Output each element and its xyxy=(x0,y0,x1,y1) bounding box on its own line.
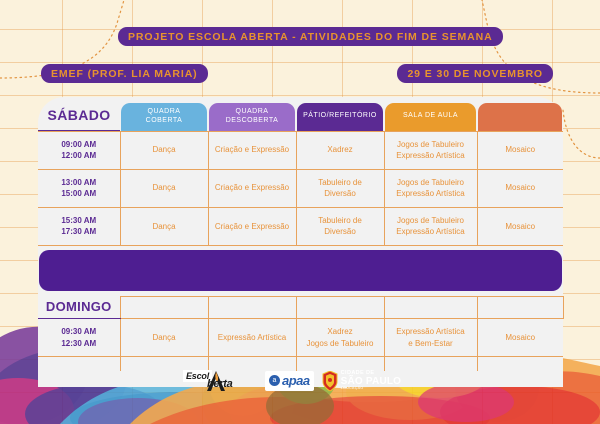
sunday-spacer-cell xyxy=(120,297,208,319)
activity-line-1: Mosaico xyxy=(480,221,562,233)
activity-line-1: Mosaico xyxy=(480,182,562,194)
activity-line-1: Expressão Artística xyxy=(387,326,475,338)
purple-banner xyxy=(39,250,562,291)
time-cell: 09:00 AM 12:00 AM xyxy=(38,131,120,169)
activity-line-1: Jogos de Tabuleiro xyxy=(387,177,475,189)
apaa-logo-text: apaa xyxy=(282,373,310,388)
time-cell: 09:30 AM 12:30 AM xyxy=(38,319,120,357)
activity-cell: Expressão Artística xyxy=(208,319,296,357)
activity-cell: Mosaico xyxy=(477,131,563,169)
activity-line-1: Xadrez xyxy=(299,326,382,338)
apaa-mark-icon: a xyxy=(269,375,280,386)
saturday-header-row: SÁBADO QUADRA COBERTA QUADRA DESCOBERTA … xyxy=(38,97,563,131)
sunday-header-row: DOMINGO xyxy=(38,297,563,319)
activity-line-1: Expressão Artística xyxy=(211,332,294,344)
activity-cell: Criação e Expressão xyxy=(208,169,296,207)
header-line-1: SALA DE AULA xyxy=(403,112,458,121)
header-line-1: QUADRA xyxy=(236,108,269,117)
escola-aberta-logo-text-2: berta xyxy=(207,378,232,390)
activity-cell: Jogos de Tabuleiro Expressão Artística xyxy=(384,169,477,207)
activity-line-1: Criação e Expressão xyxy=(211,144,294,156)
activity-line-1: Dança xyxy=(123,182,206,194)
activity-cell: Jogos de Tabuleiro Expressão Artística xyxy=(384,207,477,245)
sao-paulo-coat-of-arms-icon xyxy=(322,371,338,391)
activity-cell: Mosaico xyxy=(477,207,563,245)
column-header-patio-refeitorio: PÁTIO/REFEITÓRIO xyxy=(296,97,384,131)
time-start: 13:00 AM xyxy=(40,177,118,189)
activity-line-1: Criação e Expressão xyxy=(211,221,294,233)
activity-line-1: Jogos de Tabuleiro xyxy=(387,139,475,151)
sunday-spacer-cell xyxy=(477,297,563,319)
column-header-blank xyxy=(477,97,563,131)
column-header-quadra-coberta: QUADRA COBERTA xyxy=(120,97,208,131)
time-start: 15:30 AM xyxy=(40,215,118,227)
time-start: 09:30 AM xyxy=(40,326,118,338)
apaa-logo: a apaa xyxy=(265,371,314,391)
activity-line-1: Jogos de Tabuleiro xyxy=(387,215,475,227)
activity-cell: Dança xyxy=(120,207,208,245)
activity-line-1: Mosaico xyxy=(480,144,562,156)
page-title: PROJETO ESCOLA ABERTA - ATIVIDADES DO FI… xyxy=(118,27,503,46)
table-row: 09:00 AM 12:00 AM Dança Criação e Expres… xyxy=(38,131,563,169)
activity-cell: Xadrez xyxy=(296,131,384,169)
schedule-table: SÁBADO QUADRA COBERTA QUADRA DESCOBERTA … xyxy=(38,97,564,371)
activity-line-1: Dança xyxy=(123,332,206,344)
activity-line-2: Diversão xyxy=(299,226,382,238)
column-header-sala-de-aula: SALA DE AULA xyxy=(384,97,477,131)
sunday-spacer-cell xyxy=(296,297,384,319)
sunday-label: DOMINGO xyxy=(38,297,120,319)
purple-banner-cell xyxy=(38,246,563,297)
schedule-table-wrapper: SÁBADO QUADRA COBERTA QUADRA DESCOBERTA … xyxy=(38,97,563,371)
table-row: 13:00 AM 15:00 AM Dança Criação e Expres… xyxy=(38,169,563,207)
column-header-quadra-descoberta: QUADRA DESCOBERTA xyxy=(208,97,296,131)
header-line-2: COBERTA xyxy=(146,117,183,126)
activity-line-2: Diversão xyxy=(299,188,382,200)
sunday-spacer-cell xyxy=(208,297,296,319)
purple-banner-row xyxy=(38,246,563,297)
activity-line-1: Criação e Expressão xyxy=(211,182,294,194)
empty-cell xyxy=(477,357,563,371)
time-end: 12:00 AM xyxy=(40,150,118,162)
header-line-1: QUADRA xyxy=(148,108,181,117)
activity-cell: Dança xyxy=(120,169,208,207)
activity-cell: Tabuleiro de Diversão xyxy=(296,169,384,207)
activity-line-2: Expressão Artística xyxy=(387,150,475,162)
time-cell: 15:30 AM 17:30 AM xyxy=(38,207,120,245)
header-line-2: DESCOBERTA xyxy=(226,117,279,126)
escola-aberta-logo: Escol berta xyxy=(183,369,257,393)
activity-cell: Xadrez Jogos de Tabuleiro xyxy=(296,319,384,357)
sao-paulo-line-3: EDUCAÇÃO xyxy=(341,387,402,391)
activity-line-1: Tabuleiro de xyxy=(299,177,382,189)
activity-cell: Mosaico xyxy=(477,319,563,357)
activity-cell: Criação e Expressão xyxy=(208,131,296,169)
dates-badge: 29 E 30 DE NOVEMBRO xyxy=(397,64,553,83)
activity-line-1: Mosaico xyxy=(480,332,562,344)
table-row: 15:30 AM 17:30 AM Dança Criação e Expres… xyxy=(38,207,563,245)
sunday-spacer-cell xyxy=(384,297,477,319)
saturday-label-cell: SÁBADO xyxy=(38,97,120,131)
time-cell: 13:00 AM 15:00 AM xyxy=(38,169,120,207)
activity-line-2: Expressão Artística xyxy=(387,226,475,238)
activity-cell: Dança xyxy=(120,131,208,169)
activity-cell: Jogos de Tabuleiro Expressão Artística xyxy=(384,131,477,169)
activity-line-2: Jogos de Tabuleiro xyxy=(299,338,382,350)
empty-cell xyxy=(38,357,120,371)
time-end: 17:30 AM xyxy=(40,226,118,238)
activity-cell: Mosaico xyxy=(477,169,563,207)
activity-line-1: Dança xyxy=(123,221,206,233)
activity-cell: Dança xyxy=(120,319,208,357)
activity-line-1: Xadrez xyxy=(299,144,382,156)
sao-paulo-logo-text: CIDADE DE SÃO PAULO EDUCAÇÃO xyxy=(341,371,402,390)
activity-cell: Tabuleiro de Diversão xyxy=(296,207,384,245)
school-name-badge: EMEF (PROF. LIA MARIA) xyxy=(41,64,208,83)
table-row: 09:30 AM 12:30 AM Dança Expressão Artíst… xyxy=(38,319,563,357)
footer-logos: Escol berta a apaa CIDADE DE SÃO PAULO E… xyxy=(183,369,401,393)
activity-cell: Expressão Artística e Bem-Estar xyxy=(384,319,477,357)
activity-line-1: Dança xyxy=(123,144,206,156)
time-end: 12:30 AM xyxy=(40,338,118,350)
activity-line-2: e Bem-Estar xyxy=(387,338,475,350)
activity-line-1: Tabuleiro de xyxy=(299,215,382,227)
time-end: 15:00 AM xyxy=(40,188,118,200)
header-line-1: PÁTIO/REFEITÓRIO xyxy=(303,112,377,121)
sao-paulo-logo: CIDADE DE SÃO PAULO EDUCAÇÃO xyxy=(322,371,402,391)
saturday-label: SÁBADO xyxy=(38,105,120,130)
time-start: 09:00 AM xyxy=(40,139,118,151)
activity-cell: Criação e Expressão xyxy=(208,207,296,245)
activity-line-2: Expressão Artística xyxy=(387,188,475,200)
